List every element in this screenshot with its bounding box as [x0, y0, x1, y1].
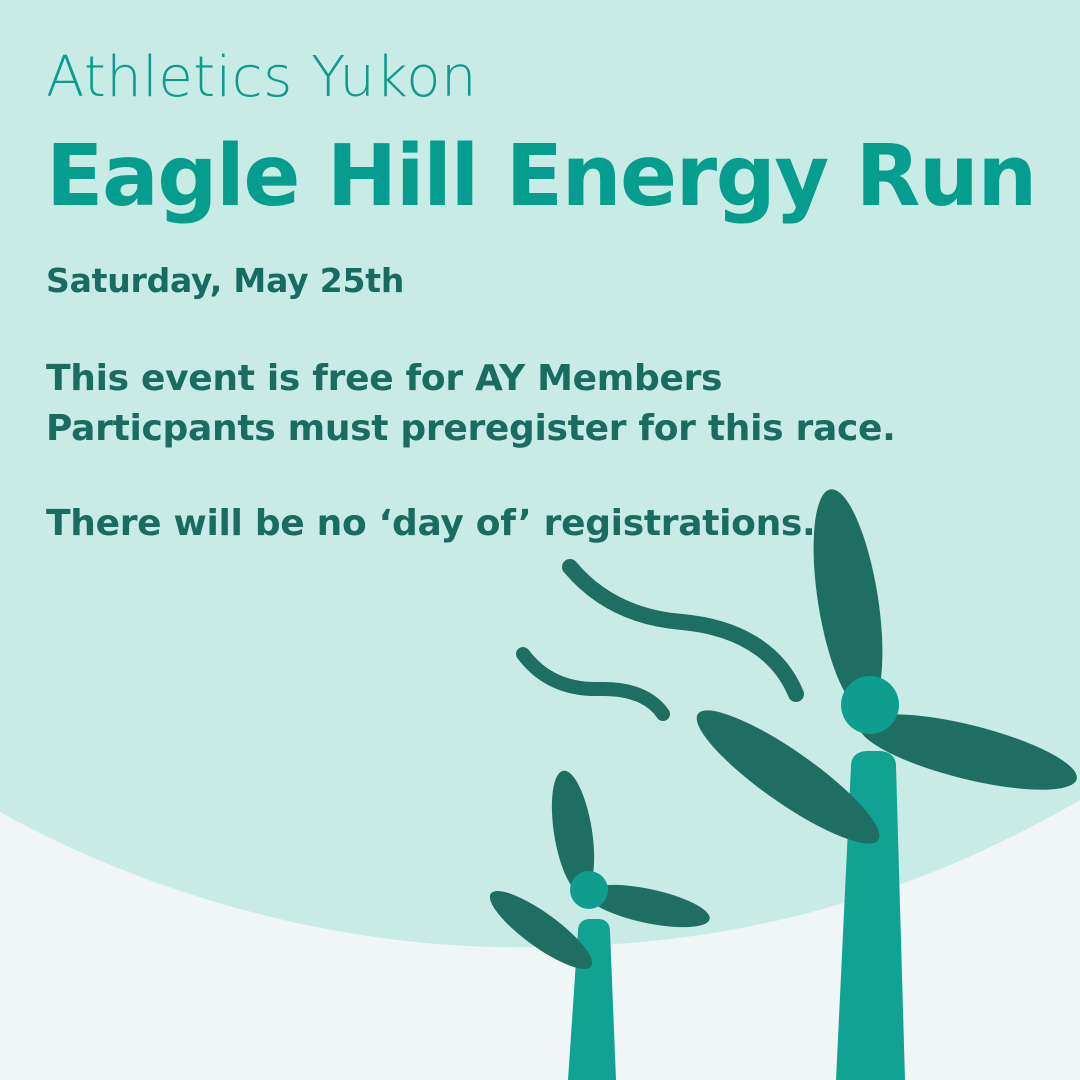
organization-name: Athletics Yukon [46, 0, 1046, 106]
wind-swirl-group [523, 567, 796, 714]
poster-canvas: Athletics Yukon Eagle Hill Energy Run Sa… [0, 0, 1080, 1080]
event-details-block: This event is free for AY Members Partic… [46, 297, 1046, 453]
large-wind-turbine [683, 485, 1080, 1080]
event-notice-line-1: There will be no ‘day of’ registrations. [46, 499, 1046, 549]
poster-text-block: Athletics Yukon Eagle Hill Energy Run Sa… [46, 0, 1046, 549]
small-turbine-hub [570, 871, 608, 909]
event-detail-line-2: Particpants must preregister for this ra… [46, 404, 1046, 454]
event-detail-line-1: This event is free for AY Members [46, 354, 1046, 404]
event-date: Saturday, May 25th [46, 219, 1046, 297]
wind-swirl-line-upper-icon [570, 567, 796, 694]
wind-swirl-line-lower-icon [523, 654, 663, 714]
large-turbine-hub [841, 676, 899, 734]
small-wind-turbine [481, 768, 713, 1080]
event-notice-block: There will be no ‘day of’ registrations. [46, 453, 1046, 549]
page-title: Eagle Hill Energy Run [46, 106, 1036, 219]
